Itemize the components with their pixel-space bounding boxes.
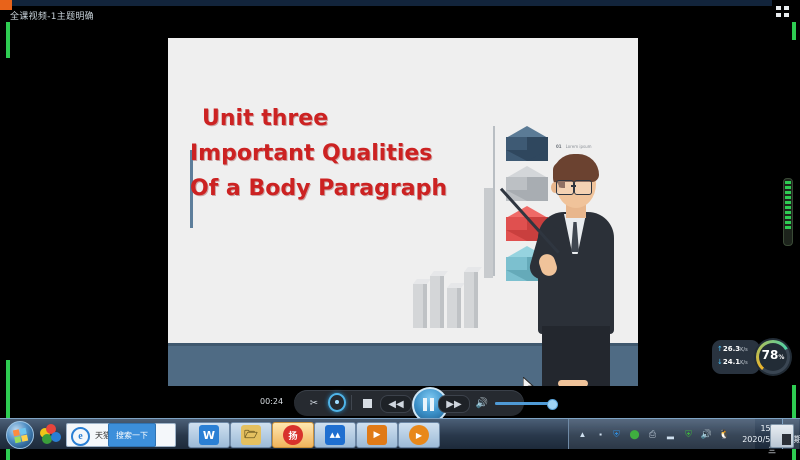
title-bar-accent-blue [12, 0, 772, 6]
upload-speed-value: 26.3 [723, 345, 740, 353]
volume-slider-handle[interactable] [547, 399, 558, 410]
slide-title-block: Unit three Important Qualities Of a Body… [190, 101, 490, 206]
windows-media-player-icon: ▶ [409, 425, 429, 445]
network-signal-icon[interactable]: ▂ [664, 428, 677, 441]
taskbar-item-file-explorer[interactable]: 🗁 [230, 422, 272, 448]
qq-icon[interactable]: 🐧 [718, 428, 731, 441]
taskbar-item-windows-media-player[interactable]: ▶ [398, 422, 440, 448]
decor-pillar-4 [464, 272, 478, 328]
windows-taskbar: e 天猫总裁 搜索一下 W 🗁 扬 ▲▲ ▶ ▶ ▲ ▪ ⛨ ⬤ ⎙ ▂ [0, 418, 800, 449]
infographic-label-1: 01Lorem ipsum [556, 144, 592, 149]
player-control-bar: 00:24 ✂ ◀◀ ▶▶ 🔊 [252, 390, 524, 416]
colored-balls-icon [40, 424, 62, 444]
decor-easel-stick [493, 126, 495, 276]
loop-icon[interactable] [328, 394, 346, 410]
printer-icon[interactable]: ⎙ [646, 428, 659, 441]
decor-easel-board [484, 188, 493, 278]
file-explorer-icon: 🗁 [241, 425, 261, 445]
taskbar-item-media-player-orange[interactable]: ▶ [356, 422, 398, 448]
infographic-text-1: Lorem ipsum [566, 144, 592, 149]
teacher-illustration [520, 154, 630, 386]
side-level-indicator[interactable] [783, 178, 793, 246]
network-speed-widget[interactable]: ↑26.3K/s ↓24.1K/s 78% [712, 338, 788, 376]
volume-tray-icon[interactable]: 🔊 [700, 428, 713, 441]
fullscreen-icon[interactable] [776, 6, 792, 20]
antivirus-shield-green-icon[interactable]: ⛨ [682, 428, 695, 441]
forward-icon[interactable]: ▶▶ [438, 395, 470, 413]
player-title-bar: 全课视频-1主题明确 [0, 0, 800, 22]
upload-speed-unit: K/s [740, 347, 748, 353]
floating-window-thumbnail[interactable] [770, 424, 794, 448]
teacher-hand-lower [558, 380, 588, 386]
infographic-number-1: 01 [556, 144, 562, 149]
teacher-glasses-right [574, 180, 592, 195]
taskbar-item-baidu-netdisk[interactable]: ▲▲ [314, 422, 356, 448]
video-slide-area[interactable]: Unit three Important Qualities Of a Body… [168, 38, 638, 386]
volume-icon[interactable]: 🔊 [474, 395, 490, 411]
wps-office-icon: W [199, 425, 219, 445]
show-hidden-icons-icon[interactable]: ▲ [576, 428, 589, 441]
download-speed-unit: K/s [740, 360, 748, 366]
search-button[interactable]: 搜索一下 [108, 423, 156, 447]
update-icon-green-icon[interactable]: ⬤ [628, 428, 641, 441]
start-button[interactable] [6, 421, 34, 449]
volume-slider[interactable] [495, 402, 555, 405]
slide-title-line-3: Of a Body Paragraph [190, 171, 490, 206]
cut-icon[interactable]: ✂ [306, 395, 322, 411]
teacher-glasses-left [556, 180, 574, 195]
baidu-netdisk-icon: ▲▲ [325, 425, 345, 445]
upload-speed-row: ↑26.3K/s [717, 345, 748, 353]
tray-dot-icon[interactable]: ▪ [594, 428, 607, 441]
system-tray: ▲ ▪ ⛨ ⬤ ⎙ ▂ ⛨ 🔊 🐧 15:18 2020/5/20 星期三 [568, 419, 800, 449]
decor-pillar-3 [447, 288, 461, 328]
rewind-icon[interactable]: ◀◀ [380, 395, 412, 413]
memory-gauge[interactable]: 78% [754, 338, 792, 376]
download-speed-value: 24.1 [723, 358, 740, 366]
teacher-glasses-bridge [571, 185, 576, 187]
decor-pillar-1 [413, 284, 427, 328]
slide-title-line-1: Unit three [190, 101, 490, 136]
window-title: 全课视频-1主题明确 [10, 9, 94, 22]
teacher-legs [542, 326, 610, 386]
sogou-input-icon: 扬 [283, 425, 303, 445]
slide-title-line-2: Important Qualities [190, 136, 490, 171]
stop-icon[interactable] [358, 395, 376, 411]
mouse-cursor [523, 377, 534, 386]
memory-gauge-value: 78% [754, 348, 792, 362]
taskbar-item-wps-office[interactable]: W [188, 422, 230, 448]
memory-gauge-unit: % [778, 354, 784, 361]
elapsed-time-label: 00:24 [260, 397, 283, 406]
decor-pillar-2 [430, 276, 444, 328]
media-player-orange-icon: ▶ [367, 425, 387, 445]
desktop-screen: 全课视频-1主题明确 Unit three Important Qualitie… [0, 0, 800, 460]
windows-logo-icon [12, 427, 27, 442]
download-speed-row: ↓24.1K/s [717, 358, 748, 366]
taskbar-item-sogou-input[interactable]: 扬 [272, 422, 314, 448]
security-shield-blue-icon[interactable]: ⛨ [610, 428, 623, 441]
control-divider [351, 395, 352, 410]
memory-gauge-number: 78 [762, 348, 779, 362]
internet-explorer-icon: e [71, 427, 90, 446]
browser-launcher-icon[interactable] [38, 422, 64, 446]
volume-slider-fill [495, 402, 551, 405]
